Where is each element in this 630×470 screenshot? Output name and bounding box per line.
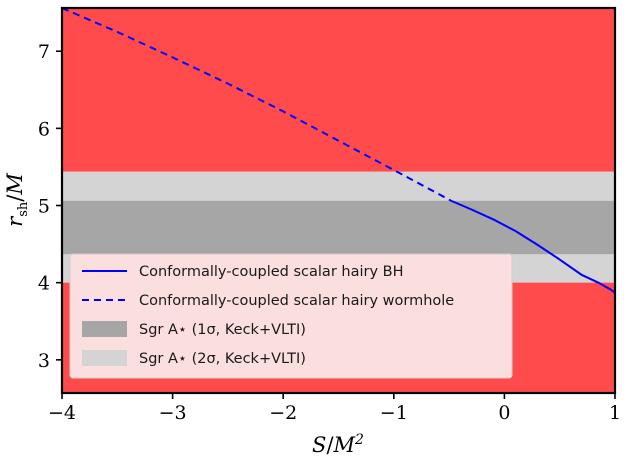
x-label-numerator: S: [312, 433, 326, 457]
y-tick-label: 5: [38, 196, 50, 218]
x-tick-label: −4: [48, 402, 76, 424]
x-tick-label: −3: [159, 402, 187, 424]
legend-label-two-sigma: Sgr A⋆ (2σ, Keck+VLTI): [139, 351, 306, 367]
legend: Conformally-coupled scalar hairy BH Conf…: [70, 254, 512, 378]
y-label-denominator: M: [3, 173, 27, 196]
y-axis-label-text: rsh/M: [3, 173, 31, 227]
y-tick-label: 6: [38, 118, 50, 140]
figure-panel: −4−3−2−101 34567 S/M2 rsh/M Conformally-…: [0, 0, 630, 470]
legend-label-bh: Conformally-coupled scalar hairy BH: [139, 264, 404, 280]
x-tick-label: −2: [269, 402, 297, 424]
x-tick-label: 1: [609, 402, 621, 424]
legend-label-one-sigma: Sgr A⋆ (1σ, Keck+VLTI): [139, 322, 306, 338]
y-tick-label: 4: [38, 273, 50, 295]
x-tick-label: 0: [498, 402, 510, 424]
x-label-exponent: 2: [354, 432, 364, 448]
legend-item-one-sigma[interactable]: Sgr A⋆ (1σ, Keck+VLTI): [82, 321, 306, 338]
one-sigma-band: [62, 201, 615, 254]
y-label-subscript: sh: [16, 201, 31, 217]
y-axis-label: rsh/M: [3, 173, 31, 227]
legend-item-two-sigma[interactable]: Sgr A⋆ (2σ, Keck+VLTI): [82, 350, 306, 367]
y-tick-label: 7: [38, 41, 50, 63]
legend-patch-one-sigma-icon: [82, 321, 127, 337]
chart-svg: −4−3−2−101 34567 S/M2 rsh/M Conformally-…: [0, 0, 630, 470]
legend-label-wormhole: Conformally-coupled scalar hairy wormhol…: [139, 293, 454, 309]
legend-patch-two-sigma-icon: [82, 350, 127, 366]
y-tick-label: 3: [38, 350, 50, 372]
x-label-denominator: M: [333, 433, 356, 457]
x-tick-label: −1: [380, 402, 408, 424]
